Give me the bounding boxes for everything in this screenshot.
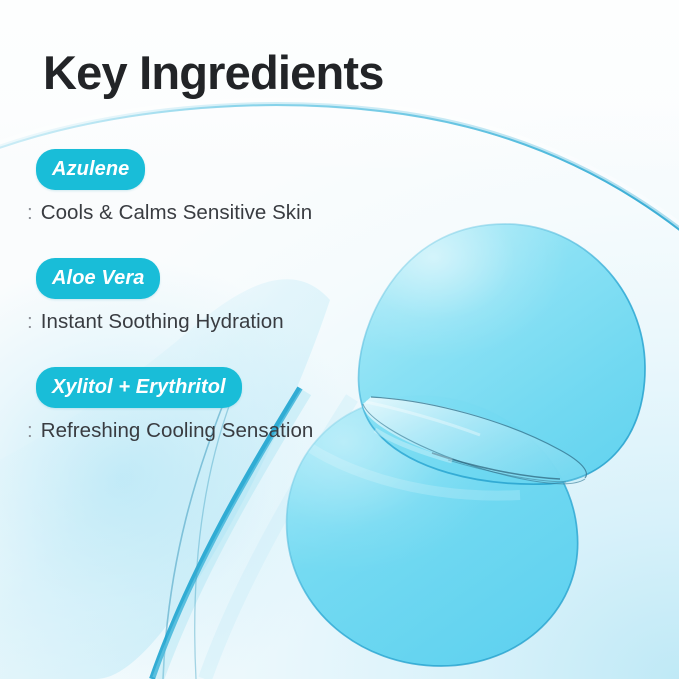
ingredient-description-azulene: :Cools & Calms Sensitive Skin: [27, 200, 312, 227]
ingredient-description-text: Refreshing Cooling Sensation: [41, 419, 314, 442]
separator-colon: :: [27, 310, 33, 333]
separator-colon: :: [27, 201, 33, 224]
product-ingredients-graphic: Key Ingredients Azulene :Cools & Calms S…: [0, 0, 679, 679]
ingredient-item-xylitol-erythritol: Xylitol + Erythritol :Refreshing Cooling…: [36, 367, 313, 445]
ingredient-description-text: Instant Soothing Hydration: [41, 310, 284, 333]
ingredient-item-aloe-vera: Aloe Vera :Instant Soothing Hydration: [36, 258, 284, 336]
ingredient-description-aloe-vera: :Instant Soothing Hydration: [27, 309, 284, 336]
content-layer: Key Ingredients Azulene :Cools & Calms S…: [0, 0, 679, 679]
ingredient-description-text: Cools & Calms Sensitive Skin: [41, 201, 312, 224]
ingredient-item-azulene: Azulene :Cools & Calms Sensitive Skin: [36, 149, 312, 227]
ingredient-badge-xylitol-erythritol: Xylitol + Erythritol: [36, 367, 242, 408]
separator-colon: :: [27, 419, 33, 442]
page-title: Key Ingredients: [43, 47, 384, 100]
ingredient-description-xylitol-erythritol: :Refreshing Cooling Sensation: [27, 418, 313, 445]
ingredient-badge-azulene: Azulene: [36, 149, 145, 190]
ingredient-badge-aloe-vera: Aloe Vera: [36, 258, 160, 299]
